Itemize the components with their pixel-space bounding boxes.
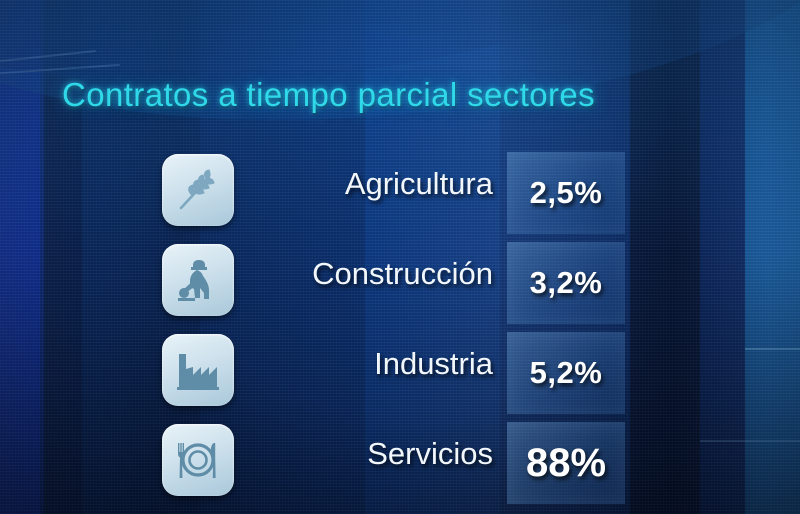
broadcast-graphic: Contratos a tiempo parcial sectores xyxy=(0,0,800,514)
list-item: Industria 5,2% xyxy=(0,330,800,420)
list-item-label: Industria xyxy=(250,346,493,382)
factory-icon xyxy=(162,334,234,406)
list-item-label: Agricultura xyxy=(250,166,493,202)
value-badge: 2,5% xyxy=(507,152,625,234)
graphic-content: Contratos a tiempo parcial sectores xyxy=(0,0,800,514)
value-text: 88% xyxy=(526,441,606,486)
restaurant-icon xyxy=(162,424,234,496)
value-badge: 3,2% xyxy=(507,242,625,324)
list-item-label: Servicios xyxy=(250,436,493,472)
value-badge: 88% xyxy=(507,422,625,504)
list-item: Construcción 3,2% xyxy=(0,240,800,330)
list-item: Servicios 88% xyxy=(0,420,800,510)
list-item-label: Construcción xyxy=(250,256,493,292)
value-text: 3,2% xyxy=(530,265,603,301)
sector-list: Agricultura 2,5% xyxy=(0,150,800,510)
wheat-icon xyxy=(162,154,234,226)
value-badge: 5,2% xyxy=(507,332,625,414)
page-title: Contratos a tiempo parcial sectores xyxy=(62,76,595,114)
construction-worker-icon xyxy=(162,244,234,316)
value-text: 5,2% xyxy=(530,355,603,391)
value-text: 2,5% xyxy=(530,175,603,211)
list-item: Agricultura 2,5% xyxy=(0,150,800,240)
